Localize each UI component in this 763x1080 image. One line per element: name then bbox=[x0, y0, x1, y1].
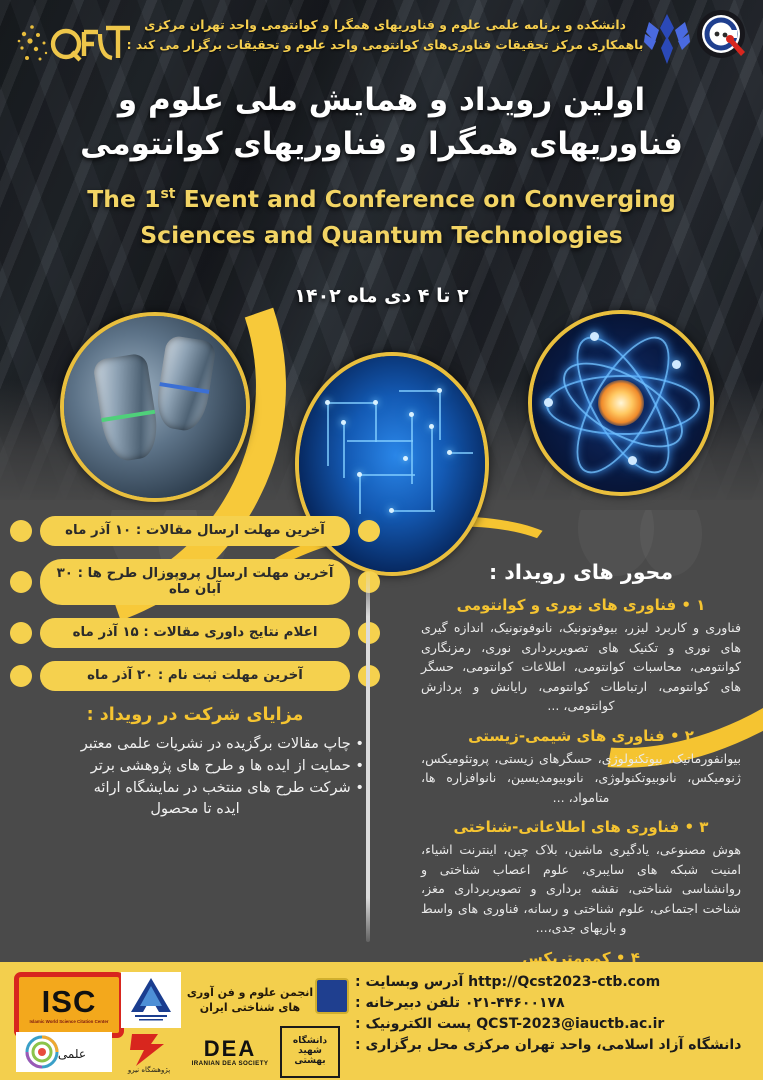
phone-line: ۰۲۱-۴۴۶۰۰۱۷۸ تلفن دبیرخانه : bbox=[355, 993, 755, 1014]
isc-logo: ISC Islamic World Science Citation Cente… bbox=[14, 972, 124, 1038]
conference-poster: دانشکده و برنامه علمی علوم و فناوریهای ه… bbox=[0, 0, 763, 1080]
topic-item: ۲ • فناوری های شیمی-زیستی بیوانفورماتیک،… bbox=[407, 727, 755, 808]
top-right-logos bbox=[641, 8, 751, 88]
secondary-logo: علمی bbox=[16, 1032, 112, 1072]
topic-label: فناوری های شیمی-زیستی bbox=[468, 727, 665, 745]
page-title-en: The 1st Event and Conference on Convergi… bbox=[0, 182, 763, 253]
svg-text:پژوهشگاه نیرو: پژوهشگاه نیرو bbox=[127, 1065, 170, 1074]
topic-number: ۲ bbox=[685, 727, 694, 745]
title-en-prefix: The 1 bbox=[87, 185, 160, 213]
deadline-row: آخرین مهلت ثبت نام : ۲۰ آذر ماه bbox=[10, 661, 380, 691]
title-en-line-1: The 1st Event and Conference on Convergi… bbox=[0, 182, 763, 218]
venue-value: دانشگاه آزاد اسلامی، واحد تهران مرکزی bbox=[463, 1037, 741, 1053]
topic-body: هوش مصنوعی، یادگیری ماشین، بلاک چین، این… bbox=[407, 840, 755, 938]
email-label: پست الکترونیک : bbox=[355, 1016, 471, 1032]
deadline-row: آخرین مهلت ارسال پروپوزال طرح ها : ۳۰ آب… bbox=[10, 559, 380, 605]
bullet-dot-icon bbox=[10, 571, 32, 593]
email-line: QCST-2023@iauctb.ac.ir پست الکترونیک : bbox=[355, 1014, 755, 1035]
dea-society-logo: DEA IRANIAN DEA SOCIETY bbox=[186, 1034, 274, 1072]
bullet-icon: • bbox=[355, 757, 364, 774]
dea-logo-subtext: IRANIAN DEA SOCIETY bbox=[192, 1060, 269, 1067]
deadline-row: آخرین مهلت ارسال مقالات : ۱۰ آذر ماه bbox=[10, 516, 380, 546]
topic-number: ۱ bbox=[696, 596, 705, 614]
bullet-dot-icon bbox=[10, 520, 32, 542]
title-fa-line-1: اولین رویداد و همایش ملی علوم و bbox=[0, 78, 763, 122]
deadlines-column: آخرین مهلت ارسال مقالات : ۱۰ آذر ماه آخر… bbox=[10, 516, 380, 820]
deadline-pill: آخرین مهلت ثبت نام : ۲۰ آذر ماه bbox=[40, 661, 350, 691]
phone-value: ۰۲۱-۴۴۶۰۰۱۷۸ bbox=[465, 995, 565, 1011]
deadline-pill: آخرین مهلت ارسال پروپوزال طرح ها : ۳۰ آب… bbox=[40, 559, 350, 605]
qcst-circular-icon bbox=[695, 8, 751, 64]
phone-label: تلفن دبیرخانه : bbox=[355, 995, 460, 1011]
cognitive-society-logo bbox=[121, 972, 181, 1028]
main-content: محور های رویداد : ۱ • فناوری های نوری و … bbox=[0, 500, 763, 960]
contact-info: http://Qcst2023-ctb.com آدرس وبسایت : ۰۲… bbox=[355, 972, 755, 1056]
title-fa-line-2: فناوریهای همگرا و فناوریهای کوانتومی bbox=[0, 122, 763, 166]
topic-number: ۳ bbox=[699, 818, 708, 836]
title-en-line-2: Sciences and Quantum Technologies bbox=[0, 218, 763, 254]
bullet-dot-icon bbox=[10, 665, 32, 687]
shahid-beheshti-text: دانشگاه شهید بهشتی bbox=[282, 1037, 338, 1067]
topic-item: ۳ • فناوری های اطلاعاتی-شناختی هوش مصنوع… bbox=[407, 818, 755, 938]
topic-label: فناوری های اطلاعاتی-شناختی bbox=[454, 818, 680, 836]
venue-line: دانشگاه آزاد اسلامی، واحد تهران مرکزی مح… bbox=[355, 1035, 755, 1056]
topic-body: بیوانفورماتیک، بیوتکنولوژی، حسگرهای زیست… bbox=[407, 749, 755, 808]
benefit-label: شرکت طرح های منتخب در نمایشگاه ارائه bbox=[94, 779, 351, 796]
benefit-item: • حمایت از ایده ها و طرح های پژوهشی برتر bbox=[24, 755, 366, 777]
website-value[interactable]: http://Qcst2023-ctb.com bbox=[468, 974, 660, 990]
website-line: http://Qcst2023-ctb.com آدرس وبسایت : bbox=[355, 972, 755, 993]
topic-title: ۱ • فناوری های نوری و کوانتومی bbox=[407, 596, 755, 614]
svg-text:علمی: علمی bbox=[58, 1047, 86, 1061]
topic-item: ۱ • فناوری های نوری و کوانتومی فناوری و … bbox=[407, 596, 755, 716]
topic-label: فناوری های نوری و کوانتومی bbox=[457, 596, 677, 614]
cognitive-society-name: انجمن علوم و فن آوری های شناختی ایران bbox=[184, 986, 316, 1016]
benefits-section: مزایای شرکت در رویداد : • چاپ مقالات برگ… bbox=[10, 705, 380, 819]
deadline-pill: آخرین مهلت ارسال مقالات : ۱۰ آذر ماه bbox=[40, 516, 350, 546]
website-label: آدرس وبسایت : bbox=[355, 974, 463, 990]
deadline-pill: اعلام نتایج داوری مقالات : ۱۵ آذر ماه bbox=[40, 618, 350, 648]
benefit-item: • چاپ مقالات برگزیده در نشریات علمی معتب… bbox=[24, 733, 366, 755]
footer: http://Qcst2023-ctb.com آدرس وبسایت : ۰۲… bbox=[0, 962, 763, 1080]
title-en-rest: Event and Conference on Converging bbox=[184, 185, 676, 213]
bullet-icon: • bbox=[355, 779, 364, 796]
event-date: ۲ تا ۴ دی ماه ۱۴۰۲ bbox=[0, 285, 763, 307]
bullet-dot-icon bbox=[10, 622, 32, 644]
topic-title: ۳ • فناوری های اطلاعاتی-شناختی bbox=[407, 818, 755, 836]
venue-label: محل برگزاری : bbox=[355, 1037, 458, 1053]
benefits-heading: مزایای شرکت در رویداد : bbox=[24, 705, 366, 725]
benefit-label: چاپ مقالات برگزیده در نشریات علمی معتبر bbox=[81, 735, 351, 752]
page-title-fa: اولین رویداد و همایش ملی علوم و فناوریها… bbox=[0, 78, 763, 166]
microscope-image bbox=[60, 312, 250, 502]
organizer-text: دانشکده و برنامه علمی علوم و فناوریهای ه… bbox=[125, 16, 645, 56]
topics-column: محور های رویداد : ۱ • فناوری های نوری و … bbox=[407, 560, 755, 990]
organizer-line-1: دانشکده و برنامه علمی علوم و فناوریهای ه… bbox=[125, 16, 645, 36]
column-divider bbox=[366, 572, 370, 942]
benefit-item: • شرکت طرح های منتخب در نمایشگاه ارائه bbox=[24, 777, 366, 799]
isc-logo-text: ISC bbox=[42, 986, 97, 1017]
sponsor-logos: ISC Islamic World Science Citation Cente… bbox=[6, 968, 341, 1074]
topic-body: فناوری و کاربرد لیزر، بیوفوتونیک، نانوفو… bbox=[407, 618, 755, 716]
bullet-icon: • bbox=[355, 735, 364, 752]
website-icon bbox=[315, 978, 349, 1014]
email-value[interactable]: QCST-2023@iauctb.ac.ir bbox=[476, 1016, 664, 1032]
bullet-dot-icon bbox=[358, 520, 380, 542]
deadline-row: اعلام نتایج داوری مقالات : ۱۵ آذر ماه bbox=[10, 618, 380, 648]
dea-logo-text: DEA bbox=[204, 1039, 256, 1060]
isc-logo-subtext: Islamic World Science Citation Center bbox=[30, 1019, 109, 1024]
topic-title: ۲ • فناوری های شیمی-زیستی bbox=[407, 727, 755, 745]
benefit-label: حمایت از ایده ها و طرح های پژوهشی برتر bbox=[91, 757, 351, 774]
power-research-logo: پژوهشگاه نیرو bbox=[118, 1030, 180, 1074]
topics-heading: محور های رویداد : bbox=[407, 560, 755, 584]
shahid-beheshti-logo: دانشگاه شهید بهشتی bbox=[280, 1026, 340, 1078]
organizer-line-2: باهمکاری مرکز تحقیقات فناوری‌های کوانتوم… bbox=[125, 36, 645, 56]
benefit-continuation: ایده تا محصول bbox=[24, 798, 366, 820]
azad-university-logo bbox=[643, 8, 691, 70]
atom-image bbox=[528, 310, 714, 496]
title-en-ordinal: st bbox=[160, 186, 175, 202]
